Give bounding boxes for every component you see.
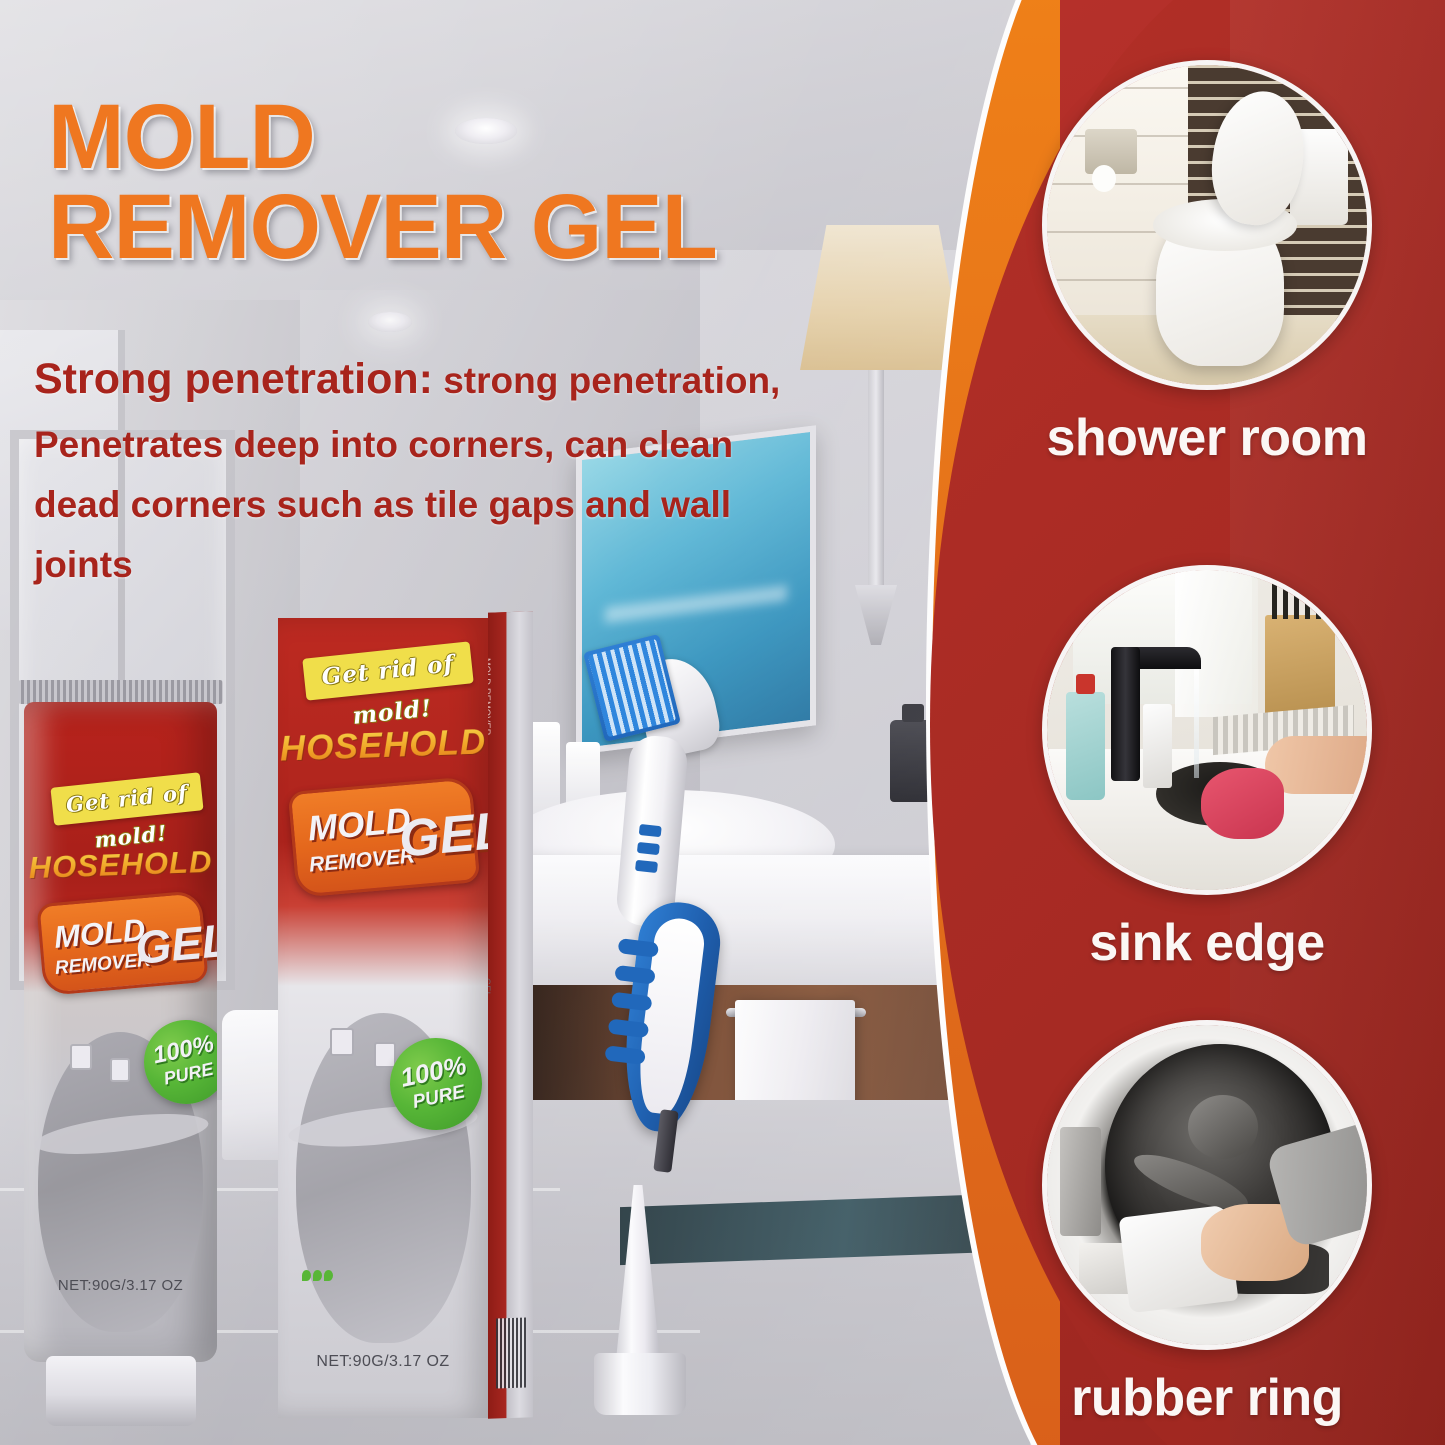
page-title: MOLD REMOVER GEL — [48, 92, 848, 272]
use-case-caption-rubber-ring: rubber ring — [1042, 1372, 1372, 1424]
title-line-2: REMOVER GEL — [48, 182, 848, 272]
tube-window-graphic — [110, 1058, 130, 1082]
pink-rubber-glove — [1201, 768, 1284, 838]
use-case-caption-shower-room: shower room — [1042, 412, 1372, 464]
use-case-caption-sink-edge: sink edge — [1042, 917, 1372, 969]
box-tagline-banner: Get rid of mold! — [302, 641, 473, 700]
tube-name-plate: MOLD REMOVER GEL — [36, 890, 208, 996]
tube-cap — [46, 1356, 196, 1426]
product-box: MOLD REMOVER GEL Get rid of mold! HOSEHO… — [278, 618, 533, 1418]
tube-tagline-banner: Get rid of mold! — [50, 772, 203, 825]
nozzle-base — [594, 1353, 686, 1415]
kitchen-sink-scene — [1047, 570, 1367, 890]
feature-line-4: joints — [34, 544, 133, 585]
box-net-weight: NET:90G/3.17 OZ — [278, 1353, 488, 1371]
box-name-gel: GEL — [397, 800, 488, 869]
product-poster: MOLD REMOVER GEL Strong penetration: str… — [0, 0, 1445, 1445]
box-window-graphic — [330, 1028, 354, 1056]
feature-lead-label: Strong penetration: — [34, 355, 433, 403]
use-case-photo-shower-room — [1042, 60, 1372, 390]
use-case-shower-room: shower room — [1042, 60, 1372, 390]
window-curtain — [1175, 570, 1258, 717]
door-hinge — [1060, 1127, 1102, 1236]
box-side-panel — [488, 611, 533, 1419]
title-line-1: MOLD — [48, 86, 315, 188]
toilet-paper-holder — [1085, 129, 1136, 174]
toilet-bathroom-scene — [1047, 65, 1367, 385]
feature-lead-rest: strong penetration, — [433, 360, 780, 401]
knife-block — [1265, 615, 1335, 717]
tube-crimp-seal — [18, 680, 223, 704]
faucet-body — [1111, 647, 1140, 781]
washing-machine-scene — [1047, 1025, 1367, 1345]
soap-dispenser — [1143, 704, 1172, 787]
spray-bottle — [1066, 692, 1104, 801]
box-barcode — [496, 1317, 526, 1388]
box-name-mold: MOLD — [306, 801, 412, 850]
use-case-sink-edge: sink edge — [1042, 565, 1372, 895]
tube-name-gel: GEL — [133, 913, 217, 975]
box-brand-name: HOSEHOLD — [278, 722, 488, 769]
running-water — [1194, 669, 1199, 778]
use-case-rubber-ring: rubber ring — [1042, 1020, 1372, 1350]
feature-line-3: dead corners such as tile gaps and wall — [34, 484, 731, 525]
tube-net-weight: NET:90G/3.17 OZ — [24, 1277, 217, 1294]
drum-vane — [1188, 1095, 1258, 1159]
nozzle-applicator-tip — [576, 1185, 706, 1415]
product-tube: Get rid of mold! HOSEHOLD MOLD REMOVER G… — [18, 680, 223, 1425]
tube-body: Get rid of mold! HOSEHOLD MOLD REMOVER G… — [24, 702, 217, 1362]
eco-leaf-icon — [302, 1270, 333, 1281]
brush-head — [583, 634, 681, 742]
box-name-plate: MOLD REMOVER GEL — [288, 776, 481, 898]
tube-brand-name: HOSEHOLD — [24, 844, 217, 887]
tube-name-mold: MOLD — [53, 912, 147, 956]
feature-line-2: Penetrates deep into corners, can clean — [34, 424, 733, 465]
scrub-brush — [585, 640, 725, 1160]
use-case-photo-sink-edge — [1042, 565, 1372, 895]
use-case-photo-rubber-ring — [1042, 1020, 1372, 1350]
box-front-face: Get rid of mold! HOSEHOLD MOLD REMOVER G… — [278, 618, 488, 1418]
brush-bristles — [588, 639, 676, 737]
feature-description: Strong penetration: strong penetration, … — [34, 345, 964, 594]
nozzle-cone — [616, 1185, 660, 1360]
tube-window-graphic — [70, 1044, 92, 1070]
